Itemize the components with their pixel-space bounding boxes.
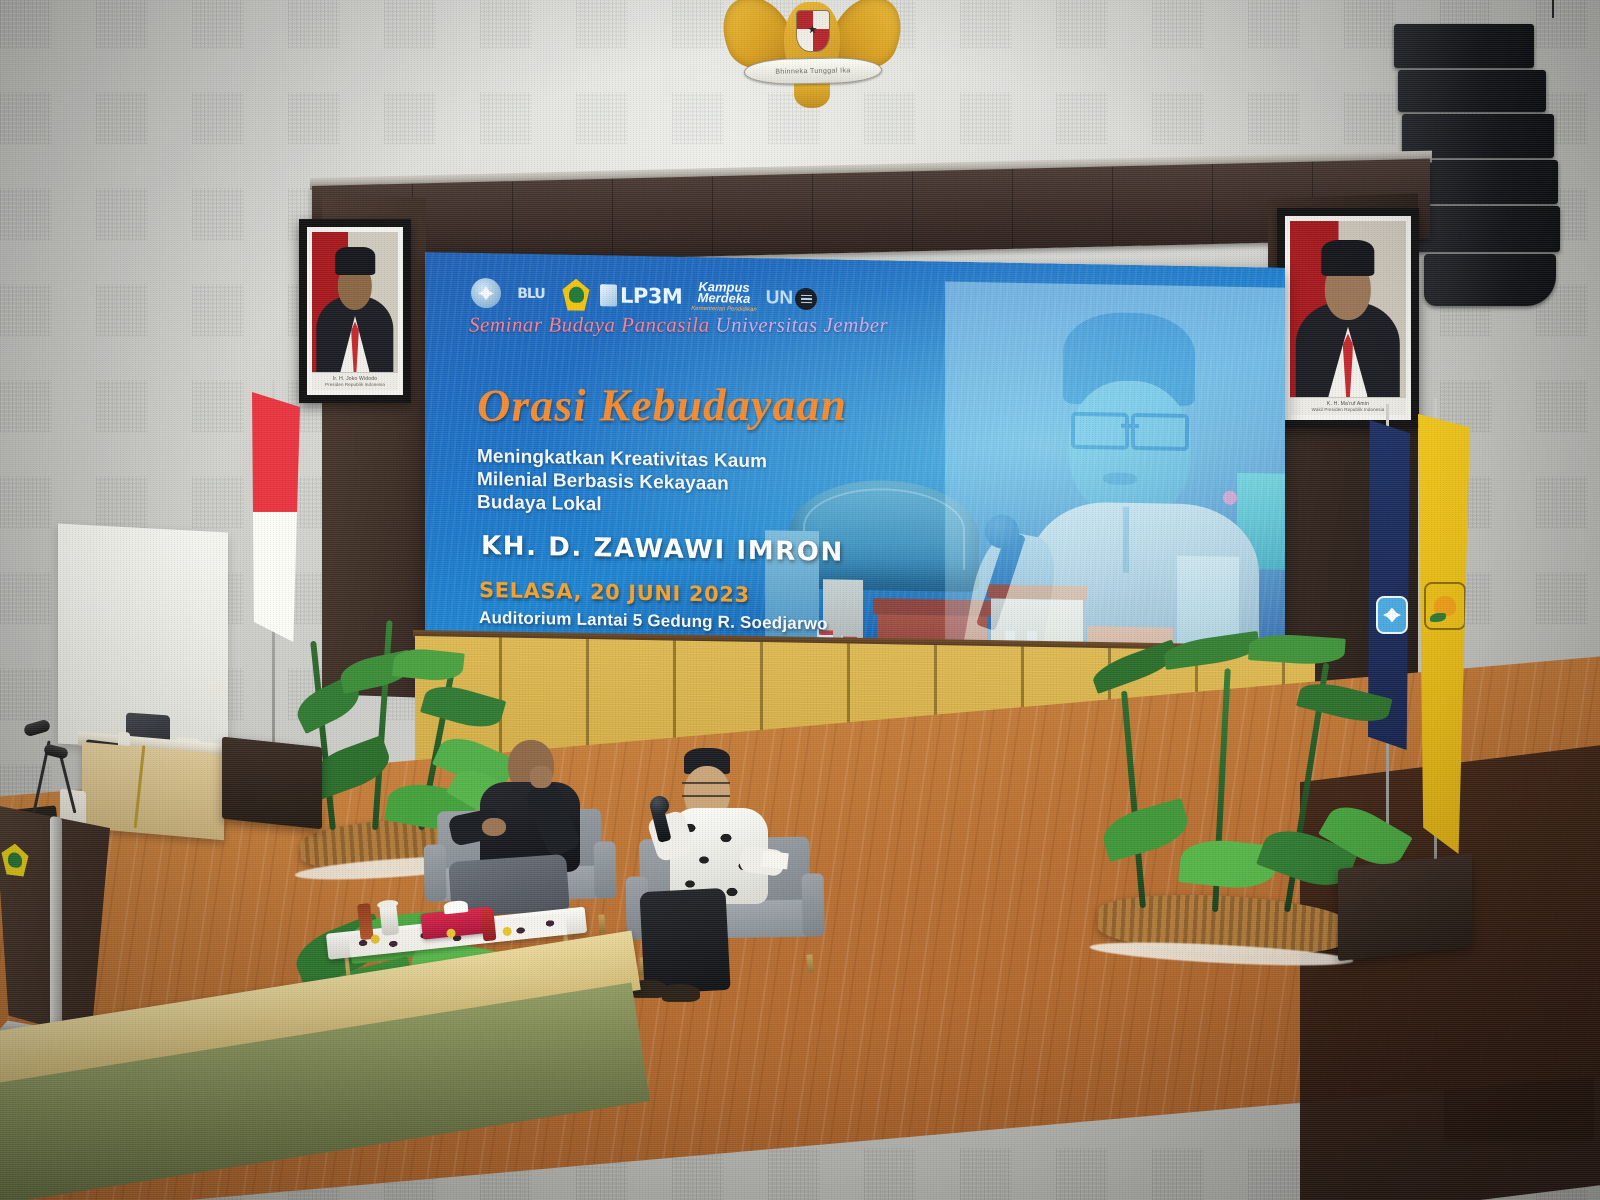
president-photo [312, 232, 398, 372]
peci-cap-icon [335, 247, 375, 275]
vice-president-portrait: K. H. Ma'ruf Amin Wakil Presiden Republi… [1277, 208, 1419, 428]
banner-logo-row: BLU LP3M Kampus Merdeka Kementerian Pend… [471, 275, 817, 317]
blu-logo-icon: BLU [510, 283, 552, 306]
stage-pedestal-right [1338, 855, 1472, 961]
projected-speaker-collar [1123, 507, 1129, 573]
projection-red-marker [1223, 491, 1237, 505]
tagline-part2: Universitas Jember [715, 313, 888, 337]
speaker-shoe-right [662, 984, 700, 1002]
lp3m-wordmark: LP3M [620, 284, 682, 309]
un-letters: UN [766, 287, 793, 310]
pancasila-shield-icon [796, 10, 830, 52]
speaker-module [1394, 24, 1534, 68]
banner-event-date: SELASA, 20 JUNI 2023 [479, 578, 750, 607]
lp3m-logo-icon: LP3M [600, 279, 682, 313]
banner-subtitle: Meningkatkan Kreativitas Kaum Milenial B… [477, 446, 767, 520]
kemendikbud-tutwuri-logo-icon [471, 278, 501, 309]
tagline-part1: Seminar Budaya Pancasila [469, 312, 710, 336]
indonesian-flag [252, 392, 300, 642]
projected-speaker-mouth [1103, 472, 1137, 485]
speaker-zawawi-imron [648, 748, 828, 998]
moderator-hand [530, 766, 552, 788]
stage-pedestal-left [222, 737, 322, 830]
unej-logo-icon [561, 278, 591, 311]
speaker-module [1424, 254, 1556, 306]
president-caption: Ir. H. Joko Widodo Presiden Republik Ind… [312, 372, 398, 390]
paper-cup [379, 904, 399, 936]
speaker-suspension-wire [1552, 0, 1554, 18]
unej-flag-emblem-icon [1424, 582, 1466, 630]
scroll-text: Bhinneka Tunggal Ika [745, 58, 881, 84]
speaker-paper [761, 851, 789, 870]
unej-wordmark-logo-icon: UN [766, 282, 817, 315]
microphone-head-icon [650, 796, 669, 815]
banner-script-tagline: Seminar Budaya Pancasila Universitas Jem… [469, 312, 889, 337]
microphone-head-icon [985, 514, 1019, 549]
speaker-module [1398, 70, 1546, 112]
speaker-trousers [639, 888, 730, 994]
bhinneka-tunggal-ika-scroll: Bhinneka Tunggal Ika [744, 57, 882, 85]
banner-headline: Orasi Kebudayaan [476, 378, 847, 432]
vice-president-photo [1290, 221, 1406, 397]
glasses-icon [1071, 412, 1189, 444]
president-portrait: Ir. H. Joko Widodo Presiden Republik Ind… [299, 219, 411, 403]
kampus-merdeka-line2: Merdeka [698, 292, 751, 304]
auditorium-photo: Bhinneka Tunggal Ika Ir. H. Joko Widodo [0, 0, 1600, 1200]
speaker-module [1408, 160, 1558, 204]
podium-microphone-secondary [42, 744, 112, 814]
peci-cap-icon [1321, 240, 1374, 275]
garuda-pancasila-emblem: Bhinneka Tunggal Ika [722, 0, 902, 112]
moderator-hand-left [482, 818, 506, 836]
speaker-glasses-icon [682, 782, 730, 797]
moderator [440, 740, 610, 920]
tut-wuri-handayani-dove-icon [1376, 596, 1408, 634]
lectern-chrome-rail [50, 816, 62, 1029]
lectern [0, 805, 110, 1041]
kampus-merdeka-logo-icon: Kampus Merdeka Kementerian Pendidikan [691, 281, 756, 314]
ej-badge-icon [795, 288, 817, 310]
speaker-module [1416, 206, 1560, 252]
